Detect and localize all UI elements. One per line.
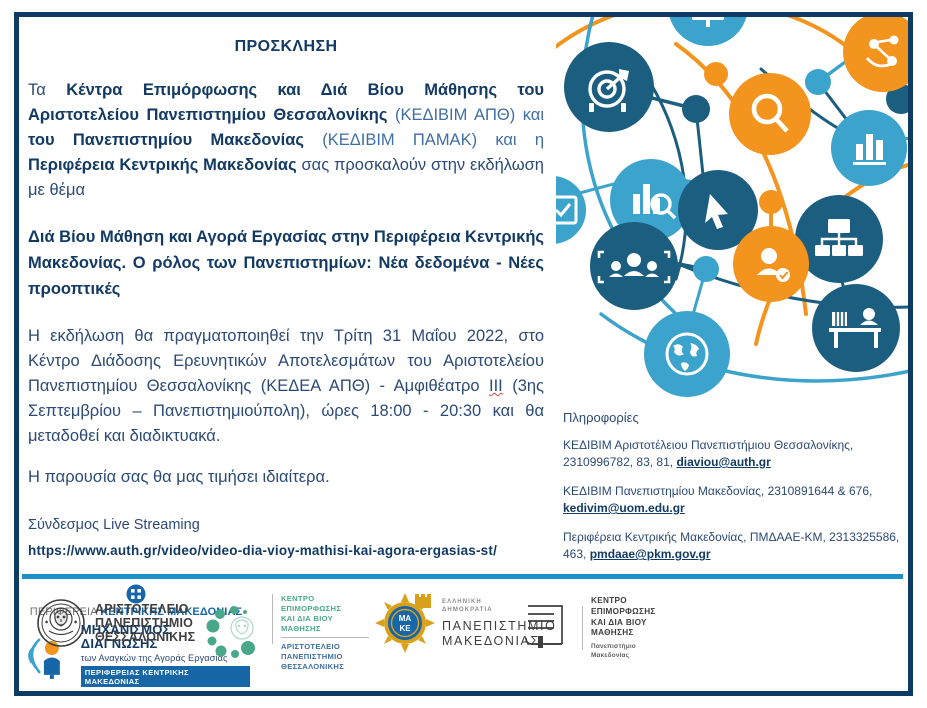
auth-name-line-1: ΑΡΙΣΤΟΤΕΛΕΙΟ <box>95 602 195 616</box>
auth-name-line-2: ΠΑΝΕΠΙΣΤΗΜΙΟ <box>95 616 195 630</box>
uom-sun-emblem-icon: ΜΑ ΚΕ <box>374 592 436 654</box>
share-idea-icon <box>843 14 911 92</box>
stream-label: Σύνδεσμος Live Streaming <box>28 517 544 533</box>
contact-info-block: Πληροφορίες ΚΕΔΙΒΙΜ Αριστοτέλειου Πανεπι… <box>563 410 903 575</box>
globe-icon <box>644 311 730 397</box>
kedivim-auth-t1-l2: ΕΠΙΜΟΡΦΩΣΗΣ <box>281 604 369 614</box>
logo-auth: ΑΡΙΣΤΟΤΕΛΕΙΟ ΠΑΝΕΠΙΣΤΗΜΙΟ ΘΕΣΣΑΛΟΝΙΚΗΣ <box>36 598 195 648</box>
logo-kedivim-uom: ΚΕΝΤΡΟ ΕΠΙΜΟΡΦΩΣΗΣ ΚΑΙ ΔΙΑ ΒΙΟΥ ΜΑΘΗΣΗΣ … <box>520 596 656 660</box>
intro-bold-3: Περιφέρεια Κεντρικής Μακεδονίας <box>28 156 297 174</box>
invitation-poster: ΠΡΟΣΚΛΗΣΗ Τα Κέντρα Επιμόρφωσης και Διά … <box>0 0 927 708</box>
info-text-uom: ΚΕΔΙΒΙΜ Πανεπιστημίου Μακεδονίας, 231089… <box>563 484 872 498</box>
info-item-uom: ΚΕΔΙΒΙΜ Πανεπιστημίου Μακεδονίας, 231089… <box>563 483 903 517</box>
stream-link[interactable]: https://www.auth.gr/video/video-dia-vioy… <box>28 543 544 558</box>
kedivim-uom-t2-l2: Μακεδονίας <box>591 652 656 660</box>
auth-name-line-3: ΘΕΣΣΑΛΟΝΙΚΗΣ <box>95 630 195 644</box>
event-details-part-a: Η εκδήλωση θα πραγματοποιηθεί την Τρίτη … <box>28 327 544 395</box>
footer-divider <box>22 574 903 579</box>
kedivim-auth-t2-l3: ΘΕΣΣΑΛΟΝΙΚΗΣ <box>281 662 369 672</box>
svg-text:ΚΕ: ΚΕ <box>399 624 411 633</box>
connector-dot <box>759 190 783 214</box>
logo-kedivim-auth: ΚΕΝΤΡΟ ΕΠΙΜΟΡΦΩΣΗΣ ΚΑΙ ΔΙΑ ΒΙΟΥ ΜΑΘΗΣΗΣ … <box>204 594 369 672</box>
kedivim-auth-t2-l2: ΠΑΝΕΠΙΣΤΗΜΙΟ <box>281 652 369 662</box>
connector-dot <box>693 256 719 282</box>
info-item-pkm: Περιφέρεια Κεντρικής Μακεδονίας, ΠΜΔΑΑΕ-… <box>563 529 903 563</box>
invitation-text-column: ΠΡΟΣΚΛΗΣΗ Τα Κέντρα Επιμόρφωσης και Διά … <box>22 30 550 560</box>
email-pmdaae-pkm[interactable]: pmdaae@pkm.gov.gr <box>590 547 711 561</box>
intro-bold-2: του Πανεπιστημίου Μακεδονίας <box>28 131 304 149</box>
network-illustration <box>556 14 911 408</box>
svg-text:ΜΑ: ΜΑ <box>399 614 412 623</box>
event-theme: Διά Βίου Μάθηση και Αγορά Εργασίας στην … <box>28 225 544 302</box>
intro-plain-2: (ΚΕΔΙΒΙΜ ΠΑΜΑΚ) και η <box>304 131 544 149</box>
info-heading: Πληροφορίες <box>563 410 903 425</box>
info-item-auth: ΚΕΔΙΒΙΜ Αριστοτέλειου Πανεπιστήμιου Θεσσ… <box>563 437 903 471</box>
amphitheatre-number: ΙΙΙ <box>489 377 503 395</box>
intro-plain-1: (ΚΕΔΙΒΙΜ ΑΠΘ) και <box>387 106 544 124</box>
email-diaviou-auth[interactable]: diaviou@auth.gr <box>676 455 770 469</box>
search-icon <box>729 73 811 155</box>
intro-paragraph: Τα Κέντρα Επιμόρφωσης και Διά Βίου Μάθησ… <box>28 78 544 203</box>
kedivim-uom-t2-l1: Πανεπιστήμιο <box>591 643 656 651</box>
footer-logo-row: ΑΡΙΣΤΟΤΕΛΕΙΟ ΠΑΝΕΠΙΣΤΗΜΙΟ ΘΕΣΣΑΛΟΝΙΚΗΣ <box>22 584 905 692</box>
kedivim-uom-book-icon <box>520 600 574 656</box>
kedivim-uom-t1-l2: ΕΠΙΜΟΡΦΩΣΗΣ <box>591 607 656 618</box>
page-title: ΠΡΟΣΚΛΗΣΗ <box>22 38 550 56</box>
connector-dot <box>805 69 831 95</box>
event-details: Η εκδήλωση θα πραγματοποιηθεί την Τρίτη … <box>28 324 544 449</box>
kedivim-uom-t1-l1: ΚΕΝΤΡΟ <box>591 596 656 607</box>
kedivim-uom-t1-l3: ΚΑΙ ΔΙΑ ΒΙΟΥ <box>591 618 656 629</box>
kedivim-auth-t1-l3: ΚΑΙ ΔΙΑ ΒΙΟΥ <box>281 614 369 624</box>
email-kedivim-uom[interactable]: kedivim@uom.edu.gr <box>563 501 685 515</box>
kedivim-uom-t1-l4: ΜΑΘΗΣΗΣ <box>591 628 656 639</box>
kedivim-auth-t2-l1: ΑΡΙΣΤΟΤΕΛΕΙΟ <box>281 642 369 652</box>
honor-note: Η παρουσία σας θα μας τιμήσει ιδιαίτερα. <box>28 465 544 490</box>
intro-lead: Τα <box>28 81 66 99</box>
checklist-icon <box>556 176 586 244</box>
kedivim-auth-dots-icon <box>204 604 264 662</box>
user-verified-icon <box>733 226 809 302</box>
kedivim-auth-t1-l4: ΜΑΘΗΣΗΣ <box>281 624 369 634</box>
connector-dot <box>704 62 728 86</box>
kedivim-auth-t1-l1: ΚΕΝΤΡΟ <box>281 594 369 604</box>
connector-dot <box>682 95 710 123</box>
auth-seal-icon <box>36 598 86 648</box>
